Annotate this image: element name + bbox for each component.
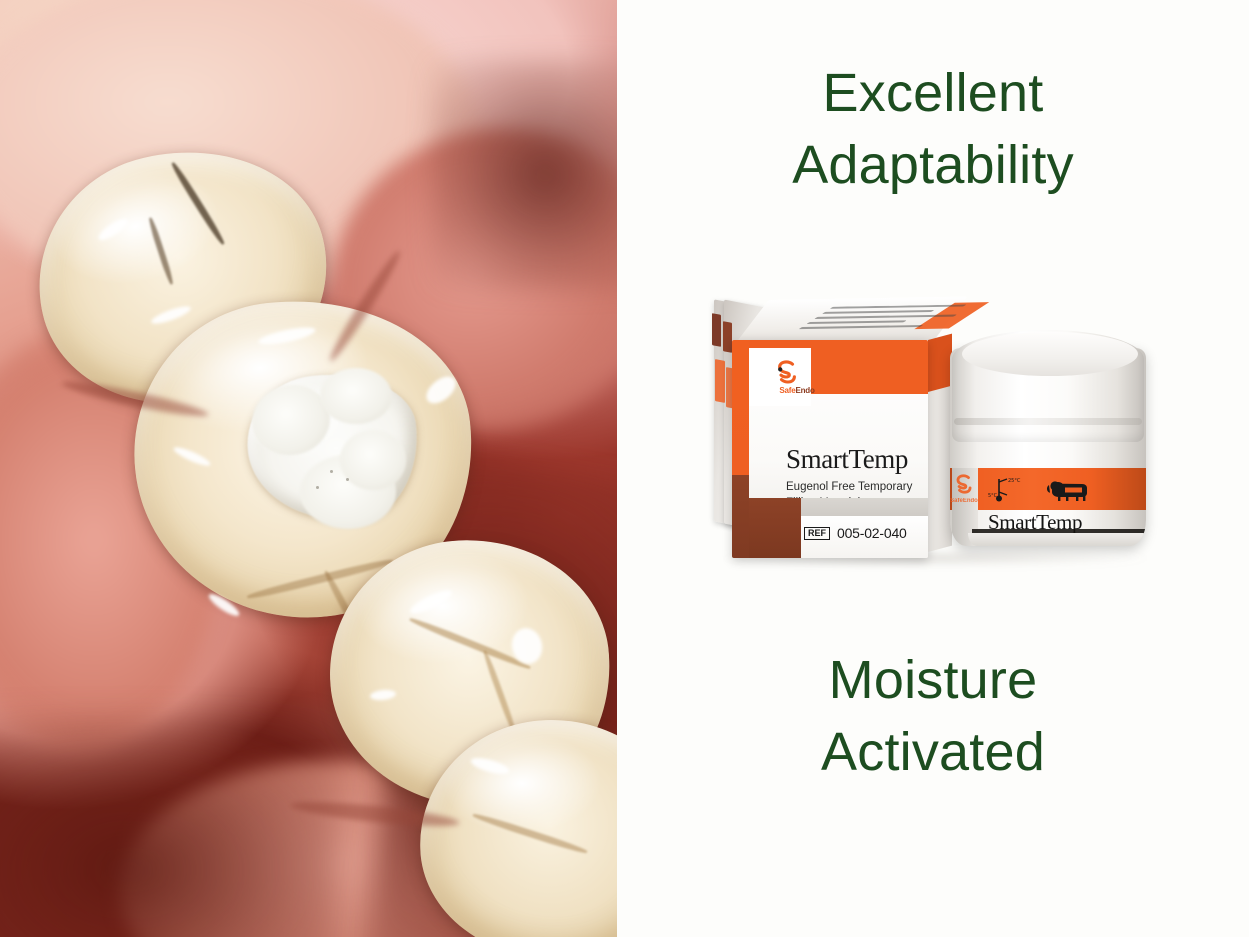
jar-logo-text: SafeEndo [950,498,978,504]
box-left-color-strip [732,340,749,558]
jar-lid-top-surface [962,332,1138,376]
tongue-shadow [0,720,340,937]
filling-lobe [340,430,406,490]
filling-speck [346,478,349,481]
jar-foot [968,533,1146,546]
filling-speck [330,470,333,473]
lion-mark-icon [1046,479,1090,506]
svg-text:25°C: 25°C [1008,478,1021,484]
logo-word-endo: Endo [963,498,978,504]
jar-symbol-row: 25°C 5°C [988,474,1118,506]
logo-word-safe: Safe [950,498,963,504]
box-brand-name: SmartTemp [786,444,908,475]
box-logo-plate: SafeEndo [749,348,811,406]
box-side-orange-band [928,334,952,392]
filling-lobe [320,368,392,424]
ref-label: REF [804,527,830,540]
product-box: SafeEndo SmartTemp Eugenol Free Temporar… [702,300,962,558]
headline-bottom: Moisture Activated [617,645,1249,789]
safeendo-logo-text: SafeEndo [767,386,827,395]
stacked-box-brown-edge [712,313,721,347]
jar-lid-seam [954,418,1142,425]
ref-number: 005-02-040 [837,525,907,541]
box-ref-row: REF 005-02-040 [804,525,907,541]
vestibule-shadow [430,60,617,290]
jar-lid [952,330,1144,442]
safeendo-s-mark-icon [776,360,798,384]
product-jar: SafeEndo 25°C 5°C [950,330,1146,546]
content-pane: Excellent Adaptability [617,0,1249,937]
logo-word-endo: Endo [795,386,814,395]
product-slide: Excellent Adaptability [0,0,1249,937]
svg-text:5°C: 5°C [988,493,998,499]
stacked-box-brown-edge [723,321,732,353]
headline-top: Excellent Adaptability [617,58,1249,202]
filling-speck [316,486,319,489]
product-image: SafeEndo SmartTemp Eugenol Free Temporar… [692,288,1202,578]
clinical-photo [0,0,617,937]
safeendo-s-mark-icon [955,474,973,494]
stacked-box-orange-edge [715,359,725,403]
box-front-face: SafeEndo SmartTemp Eugenol Free Temporar… [732,340,928,558]
logo-word-safe: Safe [779,386,795,395]
thermometer-icon: 25°C 5°C [988,476,1022,507]
box-brown-foot [749,498,801,558]
